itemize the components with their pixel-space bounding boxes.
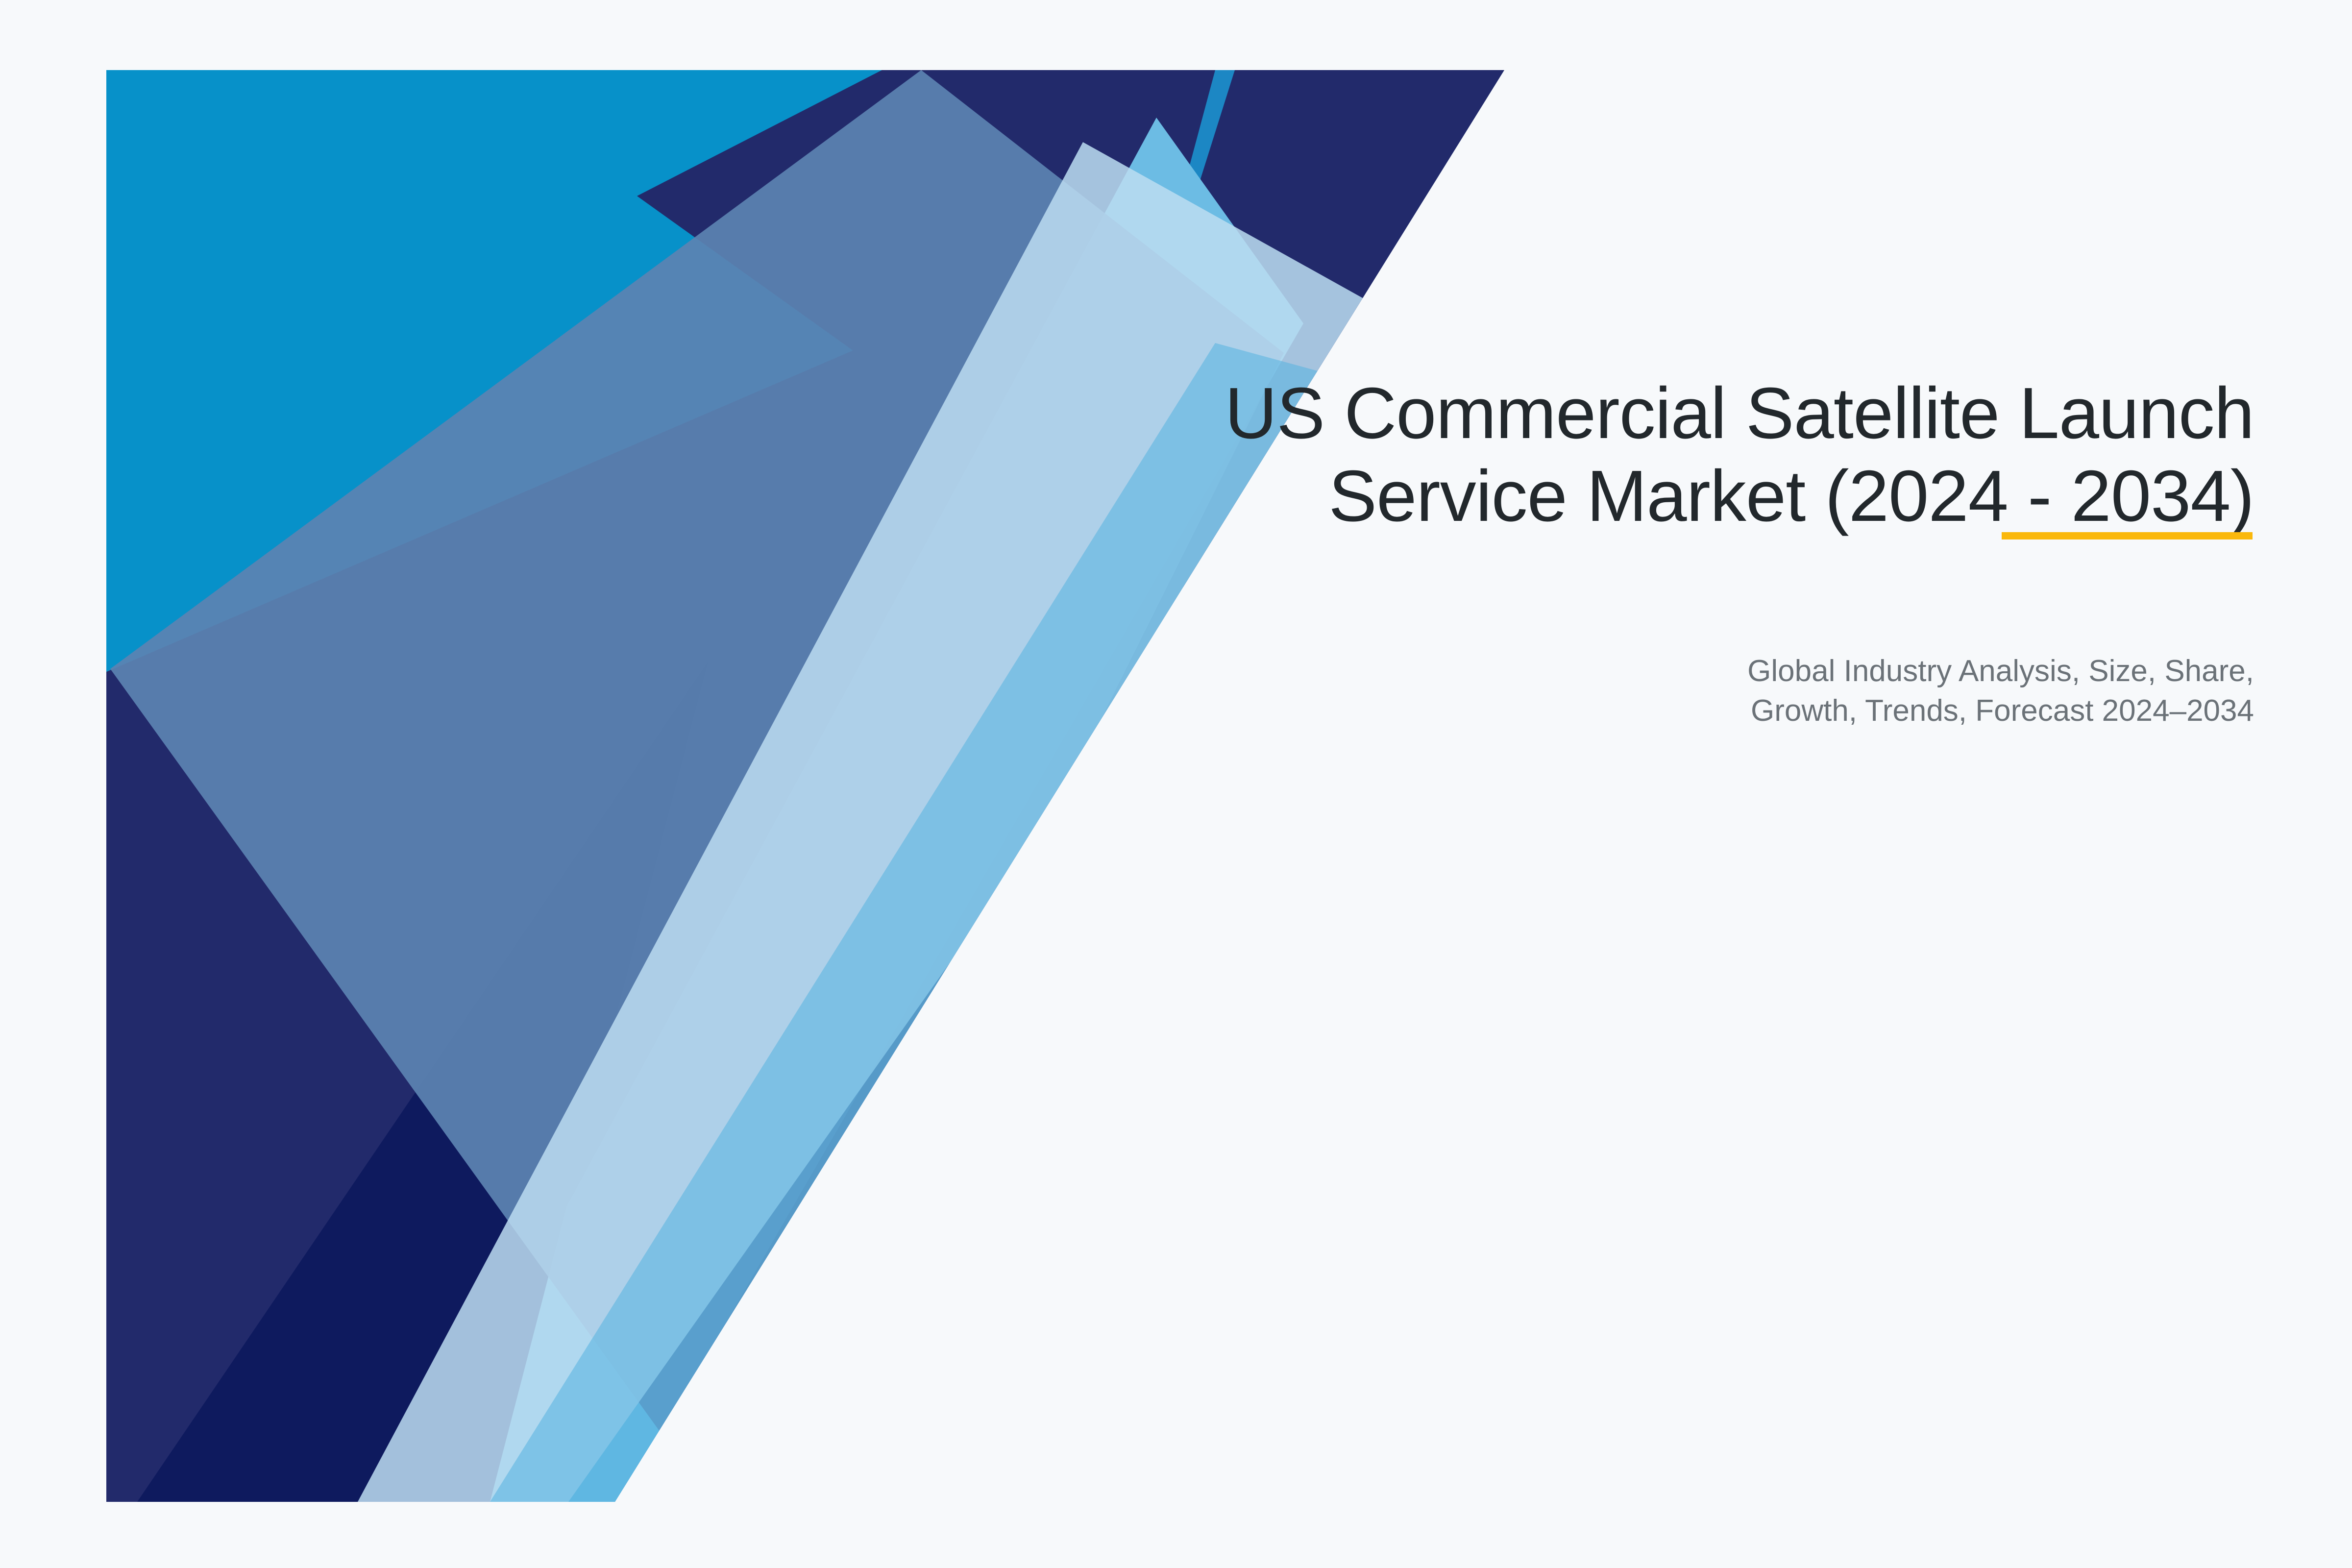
title-block: US Commercial Satellite Launch Service M… <box>931 372 2254 538</box>
page-subtitle: Global Industry Analysis, Size, Share, G… <box>1421 652 2254 731</box>
report-cover-page: US Commercial Satellite Launch Service M… <box>0 0 2352 1568</box>
abstract-geometric-artwork <box>0 0 2352 1568</box>
page-title: US Commercial Satellite Launch Service M… <box>931 372 2254 538</box>
title-underline-accent <box>2002 532 2253 539</box>
